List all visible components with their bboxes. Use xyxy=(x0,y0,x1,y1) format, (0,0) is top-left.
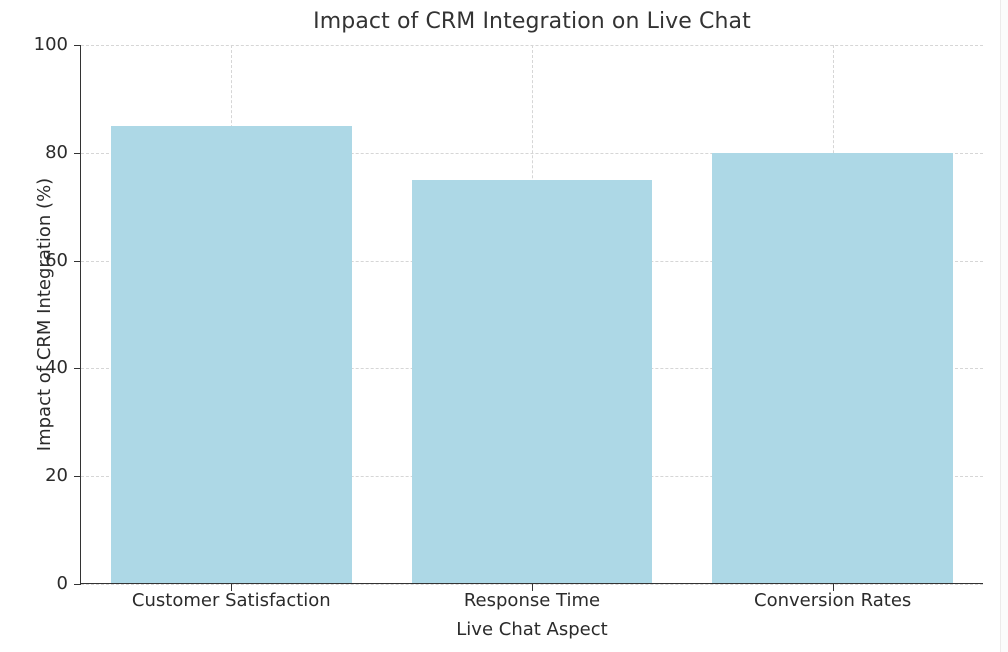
y-tick-mark xyxy=(74,476,81,477)
chart-title: Impact of CRM Integration on Live Chat xyxy=(81,9,983,34)
y-tick-mark xyxy=(74,45,81,46)
x-tick-label: Customer Satisfaction xyxy=(81,592,382,610)
bar xyxy=(412,180,653,584)
y-tick-mark xyxy=(74,261,81,262)
x-tick-label: Response Time xyxy=(382,592,683,610)
y-tick-mark xyxy=(74,153,81,154)
x-tick-label: Conversion Rates xyxy=(682,592,983,610)
bar xyxy=(111,126,352,584)
y-tick-mark xyxy=(74,584,81,585)
y-tick-mark xyxy=(74,368,81,369)
page-edge xyxy=(1000,0,1008,652)
x-axis-label: Live Chat Aspect xyxy=(81,619,983,640)
bar xyxy=(712,153,953,584)
chart-figure: Impact of CRM Integration on Live Chat 0… xyxy=(0,0,1000,652)
plot-area xyxy=(81,45,983,584)
y-axis-label: Impact of CRM Integration (%) xyxy=(31,45,59,584)
bars-group xyxy=(81,45,983,584)
y-axis-spine xyxy=(80,45,81,585)
